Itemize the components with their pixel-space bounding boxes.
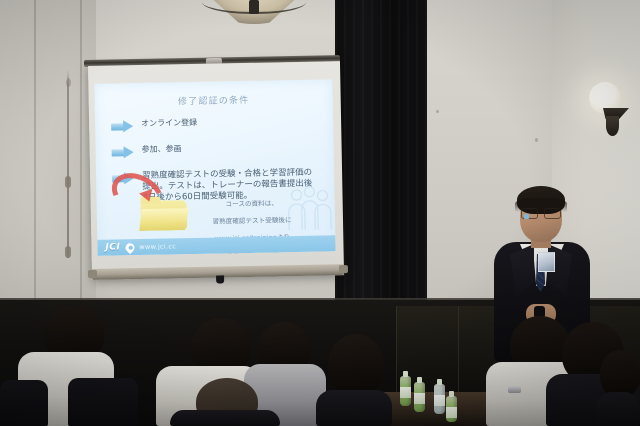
- bottle-label-3: [434, 395, 445, 406]
- wall-blemish-2: [535, 138, 538, 142]
- green-tea-bottle-2[interactable]: [414, 382, 425, 412]
- slide-bullet-1: オンライン登録: [111, 116, 311, 134]
- ceiling-light-stem: [249, 0, 259, 14]
- audience-member-8-head: [600, 350, 640, 398]
- bottle-label-2: [414, 393, 425, 404]
- cord-knot-lower: [65, 246, 71, 258]
- arrow-right-bullet-icon: [112, 146, 134, 159]
- wall-sconce-lamp: [589, 82, 633, 140]
- screen-pull-cord[interactable]: [67, 70, 69, 258]
- audience-member-5-head: [328, 334, 384, 396]
- green-tea-bottle-1[interactable]: [400, 376, 411, 406]
- presentation-photo: 修了認証の条件 オンライン登録 参加、参画 習熟度確認テストの受験・合格と学習評…: [0, 0, 640, 426]
- jci-pin-mark-icon: [123, 241, 136, 254]
- stage-curtain: [335, 0, 427, 314]
- download-arrow-icon: [110, 175, 159, 208]
- audience-member-8-body: [596, 392, 640, 426]
- audience-member-4-body: [170, 410, 280, 426]
- bottle-label-1: [400, 387, 411, 398]
- projected-slide: 修了認証の条件 オンライン登録 参加、参画 習熟度確認テストの受験・合格と学習評…: [94, 79, 335, 256]
- bottle-label-4: [446, 407, 457, 418]
- jci-footer-url: www.jci.cc: [139, 242, 176, 251]
- slide-bullet-2-text: 参加、参画: [142, 144, 182, 155]
- green-tea-bottle-3[interactable]: [446, 396, 457, 422]
- wall-seam-left: [34, 0, 36, 300]
- presenter-lapel-pin: [524, 214, 529, 219]
- slide-title: 修了認証の条件: [95, 91, 333, 109]
- wall-seam-mid: [80, 0, 82, 300]
- slide-bullet-2: 参加、参画: [112, 142, 312, 160]
- chair-1: [0, 380, 48, 426]
- wrist-watch: [508, 386, 521, 393]
- wall-blemish-1: [436, 110, 439, 113]
- arrow-right-bullet-icon: [111, 120, 133, 133]
- slide-footer-bar: JCI www.jci.cc: [97, 235, 335, 256]
- projector-screen: 修了認証の条件 オンライン登録 参加、参画 習熟度確認テストの受験・合格と学習評…: [88, 61, 344, 280]
- ceiling-light-fixture: [196, 0, 312, 28]
- chair-2: [68, 378, 138, 426]
- jci-logo-text: JCI: [105, 242, 120, 252]
- sconce-base: [606, 116, 619, 136]
- slide-bullet-1-text: オンライン登録: [141, 118, 197, 130]
- cord-knot-upper: [65, 176, 71, 188]
- screen-handle[interactable]: [216, 275, 224, 283]
- water-bottle[interactable]: [434, 384, 445, 414]
- people-silhouette-icon: [286, 185, 333, 230]
- presenter-name-badge: [538, 252, 555, 272]
- audience-member-5-body: [316, 390, 392, 426]
